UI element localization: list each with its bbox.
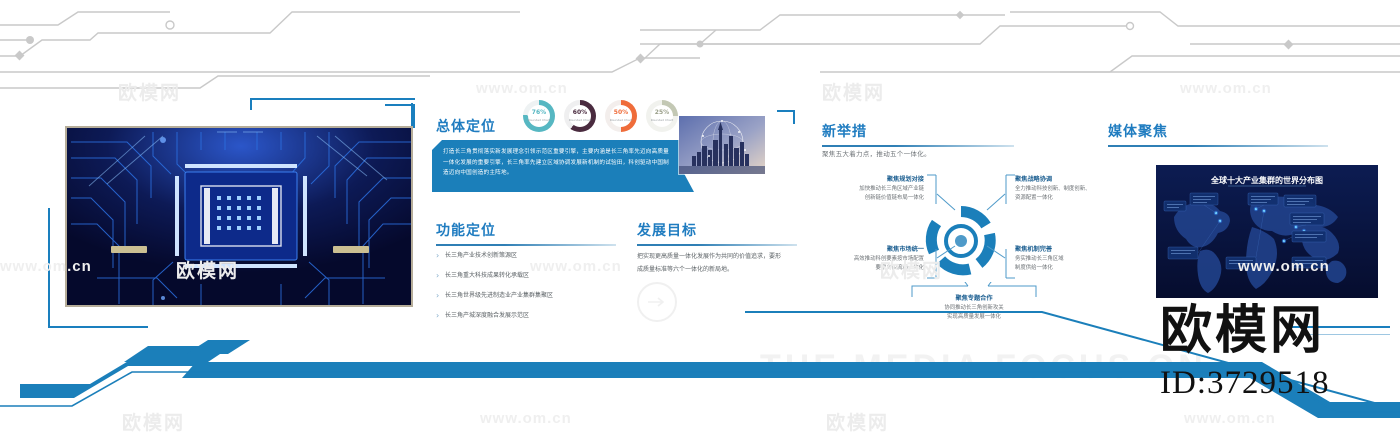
overall-description-banner: 打造长三角贯彻落实新发展理念引领示范区重要引擎，主要内涵是长三角率先迈向高质量一… (432, 140, 680, 192)
watermark-tile: www.om.cn (1184, 410, 1276, 427)
measures-subtitle: 聚焦五大着力点，推动五个一体化。 (822, 149, 1022, 160)
donut-percent: 25% (651, 110, 673, 116)
callout-head: 聚焦战略协调 (1015, 175, 1125, 185)
watermark-tile: 欧模网 (880, 256, 943, 283)
callout-mechanism: 聚焦机制完善 务实推动长三角区域 制度供给一体化 (1015, 245, 1123, 273)
media-title: 媒体聚焦 (1108, 123, 1328, 141)
center-watermark-cn: 欧模网 (1160, 301, 1325, 361)
watermark-tile: www.om.cn (1180, 80, 1272, 97)
watermark-tile: www.om.cn (480, 410, 572, 427)
callout-planning: 聚焦规划对接 加快推动长三角区域产业链 创新链价值链布局一体化 (822, 175, 924, 203)
function-title: 功能定位 (436, 222, 616, 240)
callout-head: 聚焦市场统一 (818, 245, 924, 255)
overall-body: 打造长三角贯彻落实新发展理念引领示范区重要引擎，主要内涵是长三角率先迈向高质量一… (432, 140, 680, 179)
section-heading-measures: 新举措 (822, 123, 1014, 147)
callout-bracket-mechanism (986, 244, 1016, 280)
callout-desc: 加快推动长三角区域产业链 创新链价值链布局一体化 (822, 185, 924, 203)
watermark-tile: www.om.cn (530, 258, 622, 275)
donut-chart-2: 60% Rounded Chart (564, 100, 596, 132)
watermark-tile: 欧模网 (176, 256, 239, 283)
donut-percent: 50% (610, 110, 632, 116)
section-heading-function: 功能定位 (436, 222, 616, 246)
measures-title: 新举措 (822, 123, 1014, 141)
media-rule (1108, 145, 1328, 147)
donut-caption: Rounded Chart (651, 117, 673, 123)
callout-desc: 务实推动长三角区域 制度供给一体化 (1015, 255, 1123, 273)
goal-rule (637, 244, 797, 246)
donut-percent: 76% (528, 110, 550, 116)
goal-body: 把实现更高质量一体化发展作为共同的价值追求，要形成质量标准等六个一体化的新局地。 (637, 250, 785, 276)
donut-percent: 60% (569, 110, 591, 116)
watermark-tile: 欧模网 (822, 78, 885, 105)
poster-canvas: 总体定位 76% Rounded Chart 60% Rounded Chart… (0, 0, 1400, 433)
smart-city-image (679, 116, 765, 174)
goal-title: 发展目标 (637, 222, 797, 240)
banner-corner-notch (432, 140, 442, 150)
donut-caption: Rounded Chart (528, 117, 550, 123)
watermark-tile: 欧模网 (826, 408, 889, 433)
center-watermark-id: ID:3729518 (1160, 365, 1330, 402)
frame-line-top (250, 98, 415, 100)
callout-head: 聚焦机制完善 (1015, 245, 1123, 255)
donut-caption: Rounded Chart (610, 117, 632, 123)
watermark-tile: 欧模网 (118, 78, 181, 105)
section-heading-media: 媒体聚焦 (1108, 123, 1328, 147)
callout-bracket-planning (926, 174, 956, 216)
callout-desc: 全力推动科技创新、制度创新、 资源配置一体化 (1015, 185, 1125, 203)
donut-chart-3: 50% Rounded Chart (605, 100, 637, 132)
donut-caption: Rounded Chart (569, 117, 591, 123)
world-map-image: 全球十大产业集群的世界分布图 (1156, 165, 1378, 298)
watermark-tile: www.om.cn (1238, 258, 1330, 275)
measures-rule (822, 145, 1014, 147)
donut-stat-group: 76% Rounded Chart 60% Rounded Chart 50% … (523, 100, 678, 132)
callout-bracket-strategy (986, 174, 1016, 216)
watermark-tile: www.om.cn (476, 80, 568, 97)
donut-chart-1: 76% Rounded Chart (523, 100, 555, 132)
section-heading-goal: 发展目标 (637, 222, 797, 246)
callout-bracket-cooperation (910, 282, 1038, 298)
callout-strategy: 聚焦战略协调 全力推动科技创新、制度创新、 资源配置一体化 (1015, 175, 1125, 203)
center-watermark: 欧模网 ID:3729518 (1160, 288, 1330, 402)
frame-line-top-tick (250, 98, 252, 110)
watermark-tile: 欧模网 (122, 408, 185, 433)
donut-chart-4: 25% Rounded Chart (646, 100, 678, 132)
city-image-corner (777, 110, 795, 124)
callout-head: 聚焦规划对接 (822, 175, 924, 185)
watermark-tile: www.om.cn (0, 258, 92, 275)
map-title-text: 全球十大产业集群的世界分布图 (1210, 175, 1323, 185)
